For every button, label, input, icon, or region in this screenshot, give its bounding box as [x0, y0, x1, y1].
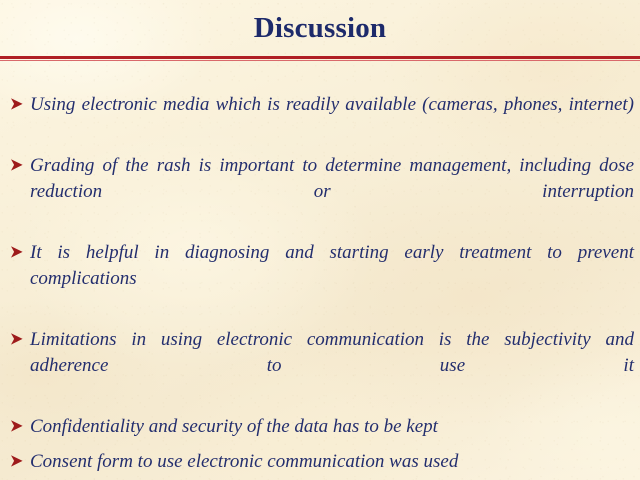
- arrowhead-right-icon: [9, 418, 25, 434]
- list-item-label: Grading of the rash is important to dete…: [30, 153, 634, 231]
- arrowhead-right-icon: [9, 244, 25, 260]
- divider-rule-accent: [0, 60, 640, 61]
- arrowhead-right-icon: [9, 453, 25, 469]
- divider-rule-primary: [0, 56, 640, 59]
- list-item: Confidentiality and security of the data…: [0, 414, 640, 440]
- slide-title-block: Discussion: [0, 0, 640, 57]
- list-item-label: Consent form to use electronic communica…: [30, 449, 634, 475]
- arrowhead-right-icon: [9, 157, 25, 173]
- list-item: Grading of the rash is important to dete…: [0, 153, 640, 231]
- list-item-label: It is helpful in diagnosing and starting…: [30, 240, 634, 318]
- slide-content: Discussion Using electronic media which …: [0, 0, 640, 480]
- list-item: Consent form to use electronic communica…: [0, 449, 640, 475]
- arrowhead-right-icon: [9, 96, 25, 112]
- arrowhead-right-icon: [9, 331, 25, 347]
- list-item: Using electronic media which is readily …: [0, 92, 640, 144]
- presentation-slide: Discussion Using electronic media which …: [0, 0, 640, 480]
- page-title: Discussion: [254, 14, 387, 43]
- list-item-label: Using electronic media which is readily …: [30, 92, 634, 144]
- title-divider: [0, 56, 640, 62]
- list-item: Limitations in using electronic communic…: [0, 327, 640, 405]
- list-item-label: Limitations in using electronic communic…: [30, 327, 634, 405]
- list-item-label: Confidentiality and security of the data…: [30, 414, 634, 440]
- list-item: It is helpful in diagnosing and starting…: [0, 240, 640, 318]
- bullet-list: Using electronic media which is readily …: [0, 92, 640, 480]
